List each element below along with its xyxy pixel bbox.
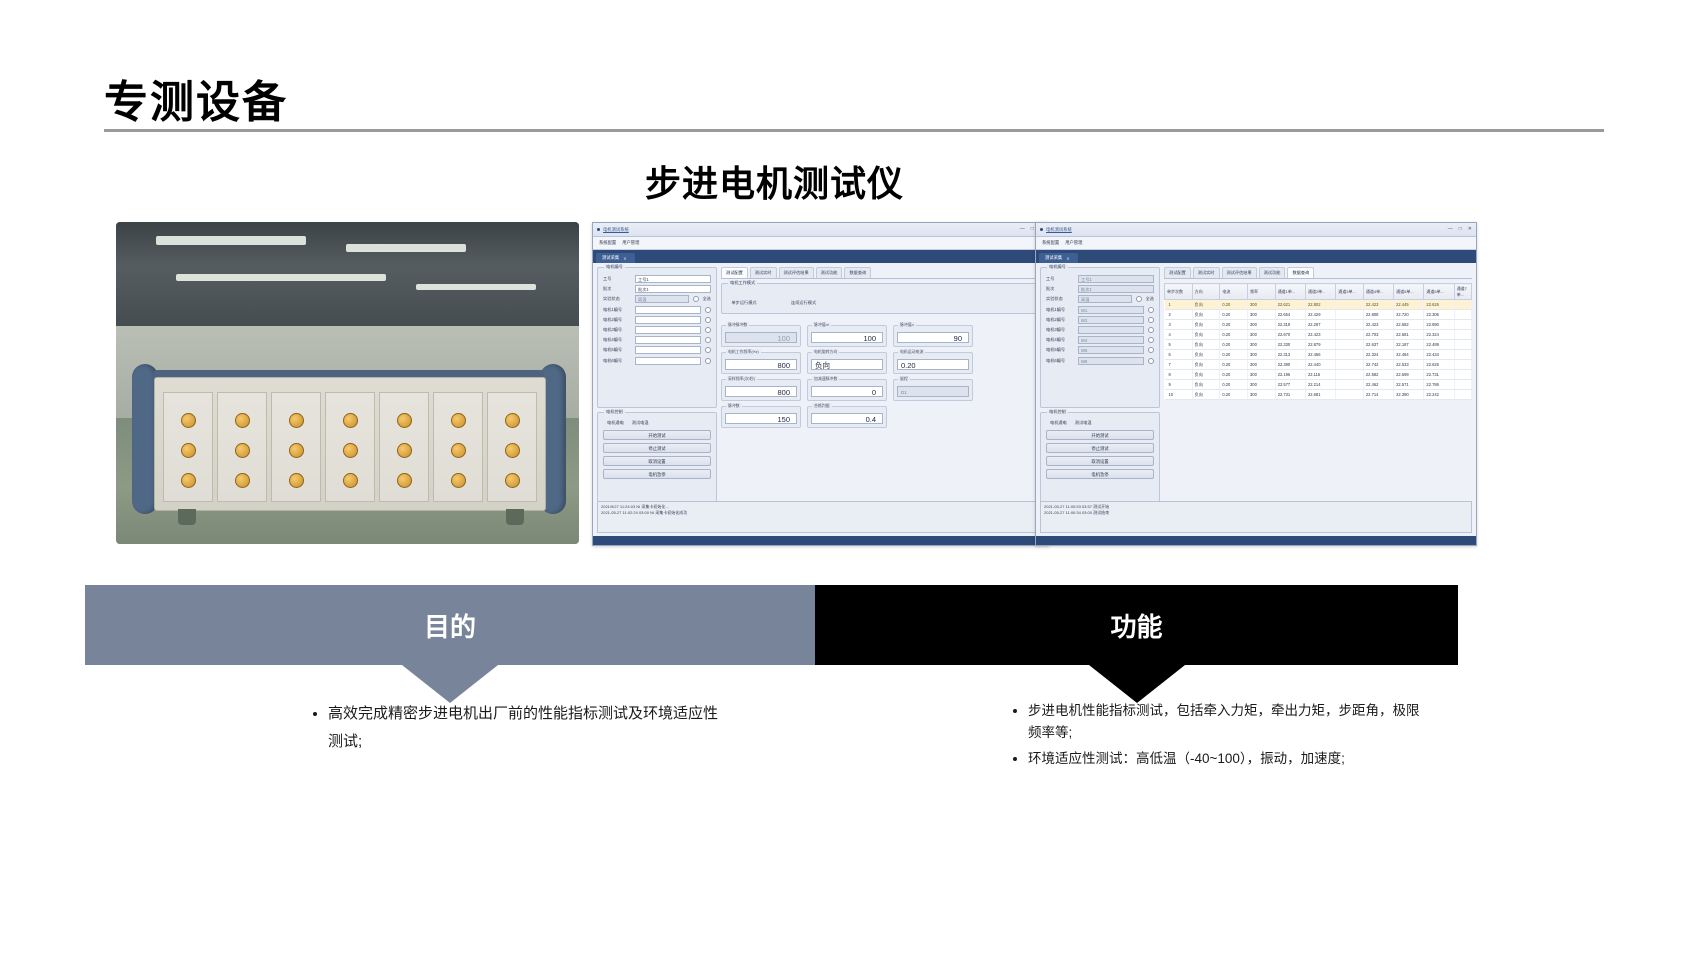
cell-channel-4: 22.423 — [1363, 320, 1393, 330]
cell-current: 0.20 — [1220, 390, 1248, 400]
cell-channel-4: 22.637 — [1363, 340, 1393, 350]
col-current[interactable]: 电流 — [1220, 284, 1248, 300]
tab-close-icon[interactable]: ✕ — [623, 256, 626, 261]
cell-channel-6: 22.324 — [1424, 330, 1454, 340]
subtab-test-result[interactable]: 测试评估结果 — [779, 267, 814, 278]
close-icon[interactable]: ✕ — [1468, 226, 1472, 232]
form-row: 电机2编号 — [603, 316, 711, 324]
stop-test-button[interactable]: 停止测试 — [1046, 443, 1154, 453]
cell-direction: 负向 — [1192, 350, 1220, 360]
motor-select-radio[interactable] — [1148, 347, 1154, 353]
motor-select-radio[interactable] — [705, 337, 711, 343]
cell-channel-2: 22.423 — [1305, 330, 1335, 340]
cell-frequency: 300 — [1248, 310, 1276, 320]
field-pulse-m: 脉冲值m 100 — [807, 325, 887, 347]
field-input[interactable]: W4 — [1078, 336, 1144, 344]
field-legend: 脉冲值m — [812, 322, 831, 328]
sub-tab-bar[interactable]: 测试配置 测试实时 测试评估结果 测试功能 数据查询 — [721, 267, 1044, 279]
cell-channel-3 — [1336, 310, 1364, 320]
cell-frequency: 300 — [1248, 320, 1276, 330]
field-legend: 脉冲值n — [898, 322, 916, 328]
tab-bar[interactable]: 测试采集 ✕ — [593, 250, 1048, 263]
app-icon — [1040, 228, 1043, 231]
field-legend: 加减速脉冲数 — [812, 376, 839, 382]
form-row: 电机5编号 W5 — [1046, 346, 1154, 354]
cell-channel-5: 22.681 — [1394, 330, 1424, 340]
motor-select-radio[interactable] — [705, 358, 711, 364]
cell-channel-1: 22.621 — [1275, 300, 1305, 310]
table-body: 1 负向 0.20 300 22.621 22.802 22.423 22.44… — [1165, 300, 1472, 400]
table-row[interactable]: 3 负向 0.20 300 22.319 22.297 22.423 22.58… — [1165, 320, 1472, 330]
function-arrow — [1089, 665, 1185, 703]
photo-channel — [217, 392, 267, 502]
cell-channel-6: 22.434 — [1424, 350, 1454, 360]
field-input[interactable]: W5 — [1078, 346, 1144, 354]
select-all-label: 全选 — [1146, 296, 1154, 302]
purpose-bullets: 高效完成精密步进电机出厂前的性能指标测试及环境适应性测试; — [310, 700, 730, 760]
field-label: 电机3编号 — [1046, 327, 1074, 333]
subtab-test-realtime[interactable]: 测试实时 — [1193, 267, 1220, 278]
cell-channel-1: 22.654 — [1275, 310, 1305, 320]
test-temp-label: 测试电温 — [632, 420, 649, 426]
cell-channel-6: 22.242 — [1424, 390, 1454, 400]
app-window-config: 电机测试系统 — □ ✕ 系统配置 用户管理 测试采集 ✕ 电机编号 工号 工号… — [592, 222, 1049, 546]
field-label: 批次 — [1046, 286, 1074, 292]
form-row: 批次 批次1 — [1046, 285, 1154, 293]
photo-channel — [163, 392, 213, 502]
field-value[interactable]: 800 — [725, 386, 797, 397]
cell-channel-3 — [1336, 340, 1364, 350]
field-label: 批次 — [603, 286, 631, 292]
cell-frequency: 300 — [1248, 350, 1276, 360]
menu-item-system-config[interactable]: 系统配置 — [599, 240, 616, 246]
field-value[interactable]: 0.4 — [811, 413, 883, 424]
field-value[interactable]: 90 — [897, 332, 969, 343]
photo-foot — [178, 509, 196, 525]
form-row: 电机3编号 — [1046, 326, 1154, 334]
purpose-arrow — [402, 665, 498, 703]
cell-channel-7 — [1454, 390, 1471, 400]
menu-bar[interactable]: 系统配置 用户管理 — [1036, 237, 1476, 250]
cell-channel-5: 22.445 — [1394, 300, 1424, 310]
field-value[interactable]: D1 — [897, 386, 969, 397]
cell-channel-1: 22.731 — [1275, 390, 1305, 400]
field-legend: 脉冲脉冲数 — [726, 322, 749, 328]
field-input[interactable]: 工号1 — [635, 275, 711, 283]
cell-channel-3 — [1336, 360, 1364, 370]
cell-channel-5: 22.571 — [1394, 380, 1424, 390]
field-legend: 脉冲数 — [726, 403, 742, 409]
cell-channel-3 — [1336, 370, 1364, 380]
field-label: 电机1编号 — [603, 307, 631, 313]
control-radio-row: 电机通电 测试电温 — [1046, 420, 1154, 426]
status-log: 2021-05-27 11:00:53 03:57 测试开始 2021-05-2… — [1040, 501, 1472, 533]
cell-direction: 负向 — [1192, 340, 1220, 350]
maximize-icon[interactable]: □ — [1459, 226, 1462, 232]
field-legend: 量程 — [898, 376, 910, 382]
field-value[interactable]: 800 — [725, 359, 797, 370]
cell-current: 0.20 — [1220, 310, 1248, 320]
tab-test-collect[interactable]: 测试采集 ✕ — [596, 253, 635, 263]
table-row[interactable]: 10 负向 0.20 300 22.731 22.681 22.714 22.3… — [1165, 390, 1472, 400]
field-input[interactable] — [635, 316, 701, 324]
field-value[interactable]: 负向 — [811, 359, 883, 370]
cell-channel-5: 22.582 — [1394, 320, 1424, 330]
cell-channel-7 — [1454, 370, 1471, 380]
field-input[interactable] — [635, 346, 701, 354]
equipment-photo — [116, 222, 579, 544]
select-all-label: 全选 — [703, 296, 711, 302]
motor-select-radio[interactable] — [1148, 317, 1154, 323]
cell-step-count: 9 — [1165, 380, 1193, 390]
window-title: 电机测试系统 — [603, 227, 629, 233]
cell-channel-6: 22.626 — [1424, 300, 1454, 310]
field-input[interactable] — [635, 306, 701, 314]
cell-frequency: 300 — [1248, 330, 1276, 340]
subtab-test-realtime[interactable]: 测试实时 — [750, 267, 777, 278]
subtab-test-function[interactable]: 测试功能 — [1259, 267, 1286, 278]
cell-channel-7 — [1454, 320, 1471, 330]
window-controls[interactable]: — □ ✕ — [1448, 226, 1472, 232]
subtab-test-function[interactable]: 测试功能 — [816, 267, 843, 278]
col-channel-2[interactable]: 通道2单... — [1305, 284, 1335, 300]
minimize-icon[interactable]: — — [1020, 226, 1025, 232]
window-titlebar: 电机测试系统 — □ ✕ — [1036, 223, 1476, 237]
cell-step-count: 5 — [1165, 340, 1193, 350]
field-pulse-count: 脉冲脉冲数 100 — [721, 325, 801, 347]
select-all-radio[interactable] — [693, 296, 699, 302]
field-value[interactable]: 0 — [811, 386, 883, 397]
cell-step-count: 10 — [1165, 390, 1193, 400]
field-input[interactable]: W1 — [1078, 306, 1144, 314]
cell-step-count: 6 — [1165, 350, 1193, 360]
col-channel-4[interactable]: 通道4单... — [1363, 284, 1393, 300]
table-row[interactable]: 8 负向 0.20 300 22.196 22.115 22.582 22.59… — [1165, 370, 1472, 380]
cell-direction: 负向 — [1192, 380, 1220, 390]
col-step-count[interactable]: 单步次数 — [1165, 284, 1193, 300]
col-direction[interactable]: 方向 — [1192, 284, 1220, 300]
table-header-row: 单步次数 方向 电流 频率 通道1单... 通道2单... 通道3单... 通道… — [1165, 284, 1472, 300]
sub-tab-bar[interactable]: 测试配置 测试实时 测试评估结果 测试功能 数据查询 — [1164, 267, 1472, 279]
app-icon — [597, 228, 600, 231]
cell-channel-5: 22.390 — [1394, 390, 1424, 400]
cell-channel-1: 22.670 — [1275, 330, 1305, 340]
cell-channel-7 — [1454, 330, 1471, 340]
col-channel-7[interactable]: 通道7单... — [1454, 284, 1471, 300]
window-title: 电机测试系统 — [1046, 227, 1072, 233]
field-label: 电机6编号 — [1046, 358, 1074, 364]
cell-step-count: 7 — [1165, 360, 1193, 370]
form-row: 电机1编号 W1 — [1046, 306, 1154, 314]
photo-channel — [379, 392, 429, 502]
col-channel-3[interactable]: 通道3单... — [1336, 284, 1364, 300]
tab-close-icon[interactable]: ✕ — [1066, 256, 1069, 261]
field-input[interactable]: 批次1 — [635, 285, 711, 293]
table-row[interactable]: 6 负向 0.20 300 22.313 22.456 22.324 22.48… — [1165, 350, 1472, 360]
field-label: 实验状态 — [603, 296, 631, 302]
photo-light — [346, 244, 466, 252]
tab-label: 测试采集 — [602, 255, 619, 261]
form-row: 电机3编号 — [603, 326, 711, 334]
motor-power-label: 电机通电 — [607, 420, 624, 426]
cell-channel-2: 22.802 — [1305, 300, 1335, 310]
cell-channel-4: 22.808 — [1363, 310, 1393, 320]
cell-frequency: 300 — [1248, 300, 1276, 310]
cell-frequency: 300 — [1248, 340, 1276, 350]
start-test-button[interactable]: 开始测试 — [1046, 430, 1154, 440]
table-row[interactable]: 2 负向 0.20 300 22.654 22.429 22.808 22.72… — [1165, 310, 1472, 320]
select-all-radio[interactable] — [1136, 296, 1142, 302]
cell-channel-7 — [1454, 380, 1471, 390]
cell-channel-1: 22.319 — [1275, 320, 1305, 330]
cell-channel-3 — [1336, 380, 1364, 390]
cell-current: 0.20 — [1220, 380, 1248, 390]
subtab-test-config[interactable]: 测试配置 — [721, 267, 748, 278]
group-legend: 电机控制 — [1047, 409, 1068, 415]
field-input[interactable]: 工号1 — [1078, 275, 1154, 283]
motor-select-radio[interactable] — [705, 307, 711, 313]
purpose-title: 目的 — [85, 585, 815, 665]
cell-direction: 负向 — [1192, 330, 1220, 340]
bullet-item: 环境适应性测试：高低温（-40~100），振动，加速度; — [1028, 748, 1430, 770]
field-sample-rate: 采样频率(次/秒) 800 — [721, 379, 801, 401]
table-row[interactable]: 7 负向 0.20 300 22.390 22.440 22.742 22.53… — [1165, 360, 1472, 370]
field-label: 电机5编号 — [1046, 347, 1074, 353]
field-input[interactable]: 批次1 — [1078, 285, 1154, 293]
field-input[interactable] — [635, 326, 701, 334]
motor-power-label: 电机通电 — [1050, 420, 1067, 426]
bullet-item: 步进电机性能指标测试，包括牵入力矩，牵出力矩，步距角，极限频率等; — [1028, 700, 1430, 744]
group-legend: 电机工作模式 — [728, 280, 757, 286]
motor-id-group: 电机编号 工号 工号1 批次 批次1 实验状态 高温 全选 电机1编号 — [1040, 267, 1160, 408]
photo-light — [156, 236, 306, 245]
field-value[interactable]: 0.20 — [897, 359, 969, 370]
cell-direction: 负向 — [1192, 310, 1220, 320]
page-title: 专测设备 — [104, 66, 288, 130]
motor-select-radio[interactable] — [1148, 307, 1154, 313]
cell-direction: 负向 — [1192, 390, 1220, 400]
motor-select-radio[interactable] — [705, 347, 711, 353]
cell-direction: 负向 — [1192, 300, 1220, 310]
cell-channel-6: 22.626 — [1424, 360, 1454, 370]
subtab-test-config[interactable]: 测试配置 — [1164, 267, 1191, 278]
col-channel-6[interactable]: 通道6单... — [1424, 284, 1454, 300]
motor-control-group: 电机控制 电机通电 测试电温 开始测试 停止测试 取消设置 电机急停 — [1040, 412, 1160, 507]
field-input[interactable]: 离温 — [635, 295, 689, 303]
cell-channel-7 — [1454, 310, 1471, 320]
photo-cabinet — [154, 377, 546, 511]
motor-select-radio[interactable] — [1148, 327, 1154, 333]
field-input[interactable] — [1078, 326, 1144, 334]
tab-bar[interactable]: 测试采集 ✕ — [1036, 250, 1476, 263]
work-mode-group: 电机工作模式 单步运行模式 连续运行模式 — [721, 283, 1044, 314]
cell-channel-6: 22.306 — [1424, 310, 1454, 320]
tab-label: 测试采集 — [1045, 255, 1062, 261]
title-divider — [104, 129, 1604, 132]
field-label: 电机1编号 — [1046, 307, 1074, 313]
form-row: 电机2编号 W2 — [1046, 316, 1154, 324]
form-row: 电机6编号 — [603, 357, 711, 365]
cell-channel-6: 22.489 — [1424, 340, 1454, 350]
single-step-label: 单步运行模式 — [731, 300, 756, 305]
field-pulse-number: 脉冲数 150 — [721, 406, 801, 428]
field-label: 工号 — [1046, 276, 1074, 282]
motor-id-group: 电机编号 工号 工号1 批次 批次1 实验状态 离温 全选 电机1编号 — [597, 267, 717, 408]
table-row[interactable]: 9 负向 0.20 300 22.577 22.214 22.462 22.57… — [1165, 380, 1472, 390]
cell-frequency: 300 — [1248, 390, 1276, 400]
log-line: 2021-05-27 11:00:34 03:00 测试结束 — [1044, 510, 1468, 516]
form-row: 电机5编号 — [603, 346, 711, 354]
motor-select-radio[interactable] — [705, 327, 711, 333]
minimize-icon[interactable]: — — [1448, 226, 1453, 232]
cell-channel-2: 22.681 — [1305, 390, 1335, 400]
bullet-item: 高效完成精密步进电机出厂前的性能指标测试及环境适应性测试; — [328, 700, 730, 756]
cell-current: 0.20 — [1220, 340, 1248, 350]
cell-channel-1: 22.390 — [1275, 360, 1305, 370]
field-label: 电机2编号 — [1046, 317, 1074, 323]
table-row[interactable]: 1 负向 0.20 300 22.621 22.802 22.423 22.44… — [1165, 300, 1472, 310]
cell-step-count: 4 — [1165, 330, 1193, 340]
motor-select-radio[interactable] — [705, 317, 711, 323]
app-window-data: 电机测试系统 — □ ✕ 系统配置 用户管理 测试采集 ✕ 电机编号 工号 工号… — [1035, 222, 1477, 546]
field-rotation-direction: 电机旋转方向 负向 — [807, 352, 887, 374]
cancel-settings-button[interactable]: 取消设置 — [1046, 456, 1154, 466]
cell-current: 0.20 — [1220, 350, 1248, 360]
cell-frequency: 300 — [1248, 370, 1276, 380]
function-title: 功能 — [815, 585, 1458, 665]
cell-channel-1: 22.577 — [1275, 380, 1305, 390]
photo-channel — [325, 392, 375, 502]
menu-item-system-config[interactable]: 系统配置 — [1042, 240, 1059, 246]
field-value[interactable]: 100 — [725, 332, 797, 343]
cell-current: 0.20 — [1220, 320, 1248, 330]
cell-channel-5: 22.187 — [1394, 340, 1424, 350]
subtab-test-result[interactable]: 测试评估结果 — [1222, 267, 1257, 278]
control-radio-row: 电机通电 测试电温 — [603, 420, 711, 426]
motor-control-group: 电机控制 电机通电 测试电温 开始测试 停止测试 取消设置 电机急停 — [597, 412, 717, 507]
cell-channel-6: 22.890 — [1424, 320, 1454, 330]
field-label: 电机5编号 — [603, 347, 631, 353]
form-row: 工号 工号1 — [603, 275, 711, 283]
log-line: 2021-05-27 11:02:24 03:00 NI 采集卡初始化成功 — [601, 510, 1040, 516]
cell-channel-4: 22.582 — [1363, 370, 1393, 380]
field-input[interactable] — [635, 336, 701, 344]
col-frequency[interactable]: 频率 — [1248, 284, 1276, 300]
cell-channel-1: 22.196 — [1275, 370, 1305, 380]
cell-channel-7 — [1454, 340, 1471, 350]
cell-channel-1: 22.330 — [1275, 340, 1305, 350]
field-input[interactable]: W2 — [1078, 316, 1144, 324]
field-label: 电机4编号 — [1046, 337, 1074, 343]
field-value[interactable]: 150 — [725, 413, 797, 424]
motor-select-radio[interactable] — [1148, 337, 1154, 343]
cell-channel-7 — [1454, 350, 1471, 360]
menu-bar[interactable]: 系统配置 用户管理 — [593, 237, 1048, 250]
table-row[interactable]: 4 负向 0.20 300 22.670 22.423 22.703 22.68… — [1165, 330, 1472, 340]
col-channel-1[interactable]: 通道1单... — [1275, 284, 1305, 300]
menu-item-user-manage[interactable]: 用户管理 — [622, 240, 639, 246]
cell-channel-7 — [1454, 300, 1471, 310]
cell-channel-5: 22.533 — [1394, 360, 1424, 370]
continuous-label: 连续运行模式 — [791, 300, 816, 305]
cell-channel-6: 22.786 — [1424, 380, 1454, 390]
cell-channel-2: 22.115 — [1305, 370, 1335, 380]
form-row: 电机4编号 — [603, 336, 711, 344]
cell-frequency: 300 — [1248, 360, 1276, 370]
field-label: 电机3编号 — [603, 327, 631, 333]
field-input[interactable] — [635, 357, 701, 365]
motor-select-radio[interactable] — [1148, 358, 1154, 364]
status-log: 2021/5/27 11:24:03 NI 采集卡初始化... 2021-05-… — [597, 501, 1044, 533]
field-value[interactable]: 100 — [811, 332, 883, 343]
cell-channel-4: 22.462 — [1363, 380, 1393, 390]
cell-current: 0.20 — [1220, 330, 1248, 340]
cell-channel-4: 22.742 — [1363, 360, 1393, 370]
menu-item-user-manage[interactable]: 用户管理 — [1065, 240, 1082, 246]
cell-direction: 负向 — [1192, 370, 1220, 380]
form-row: 实验状态 高温 全选 — [1046, 295, 1154, 303]
field-accel-pulses: 加减速脉冲数 0 — [807, 379, 887, 401]
table-row[interactable]: 5 负向 0.20 300 22.330 22.879 22.637 22.18… — [1165, 340, 1472, 350]
emergency-stop-button[interactable]: 电机急停 — [603, 469, 711, 479]
subtab-data-query[interactable]: 数据查询 — [1287, 267, 1314, 278]
form-row: 工号 工号1 — [1046, 275, 1154, 283]
cell-step-count: 3 — [1165, 320, 1193, 330]
cell-current: 0.20 — [1220, 370, 1248, 380]
cancel-settings-button[interactable]: 取消设置 — [603, 456, 711, 466]
cell-step-count: 8 — [1165, 370, 1193, 380]
group-legend: 电机编号 — [604, 264, 625, 270]
subtab-data-query[interactable]: 数据查询 — [844, 267, 871, 278]
purpose-banner: 目的 — [85, 585, 815, 665]
group-legend: 电机控制 — [604, 409, 625, 415]
cell-channel-2: 22.440 — [1305, 360, 1335, 370]
cell-frequency: 300 — [1248, 380, 1276, 390]
cell-channel-5: 22.484 — [1394, 350, 1424, 360]
stop-test-button[interactable]: 停止测试 — [603, 443, 711, 453]
measurement-table[interactable]: 单步次数 方向 电流 频率 通道1单... 通道2单... 通道3单... 通道… — [1164, 283, 1472, 400]
cell-channel-3 — [1336, 330, 1364, 340]
config-fields: 脉冲脉冲数 100 脉冲值m 100 脉冲值n 90 电机工作频率(Hz) 80… — [721, 325, 1044, 428]
cell-channel-4: 22.324 — [1363, 350, 1393, 360]
field-pulse-n: 脉冲值n 90 — [893, 325, 973, 347]
field-legend: 合格判据 — [812, 403, 832, 409]
col-channel-5[interactable]: 通道5单... — [1394, 284, 1424, 300]
cell-channel-6: 22.731 — [1424, 370, 1454, 380]
tab-test-collect[interactable]: 测试采集 ✕ — [1039, 253, 1078, 263]
cell-channel-5: 22.720 — [1394, 310, 1424, 320]
cell-channel-1: 22.313 — [1275, 350, 1305, 360]
field-pass-criterion: 合格判据 0.4 — [807, 406, 887, 428]
field-input[interactable]: 高温 — [1078, 295, 1132, 303]
maximize-icon[interactable]: □ — [1031, 226, 1034, 232]
field-legend: 采样频率(次/秒) — [726, 376, 757, 382]
field-legend: 电机旋转方向 — [812, 349, 839, 355]
cell-step-count: 2 — [1165, 310, 1193, 320]
start-test-button[interactable]: 开始测试 — [603, 430, 711, 440]
field-work-frequency: 电机工作频率(Hz) 800 — [721, 352, 801, 374]
emergency-stop-button[interactable]: 电机急停 — [1046, 469, 1154, 479]
function-bullets: 步进电机性能指标测试，包括牵入力矩，牵出力矩，步距角，极限频率等; 环境适应性测… — [1010, 700, 1430, 774]
cell-step-count: 1 — [1165, 300, 1193, 310]
mode-radio-row: 单步运行模式 连续运行模式 — [727, 291, 1038, 309]
field-input[interactable]: W6 — [1078, 357, 1144, 365]
cell-channel-2: 22.297 — [1305, 320, 1335, 330]
function-banner: 功能 — [815, 585, 1458, 665]
cell-channel-3 — [1336, 350, 1364, 360]
form-row: 批次 批次1 — [603, 285, 711, 293]
field-range: 量程 D1 — [893, 379, 973, 401]
